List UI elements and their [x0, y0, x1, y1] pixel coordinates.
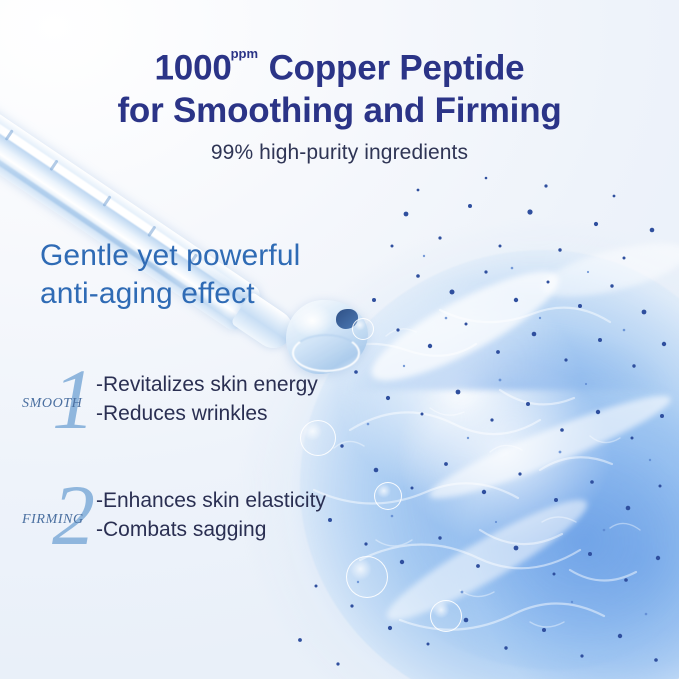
headline-line1-rest: Copper Peptide [259, 49, 524, 88]
product-marketing-image: 1000ppm Copper Peptide for Smoothing and… [0, 0, 679, 679]
benefit-line: -Reduces wrinkles [96, 399, 396, 428]
benefit-lines: -Revitalizes skin energy -Reduces wrinkl… [96, 370, 396, 428]
benefit-heading-line2: anti-aging effect [40, 275, 300, 313]
benefit-line: -Enhances skin elasticity [96, 486, 396, 515]
benefit-line: -Revitalizes skin energy [96, 370, 396, 399]
headline-line2: for Smoothing and Firming [0, 90, 679, 132]
benefit-lines: -Enhances skin elasticity -Combats saggi… [96, 486, 396, 544]
page-title: 1000ppm Copper Peptide for Smoothing and… [0, 42, 679, 132]
headline-amount: 1000 [155, 49, 232, 88]
benefit-heading-line1: Gentle yet powerful [40, 237, 300, 275]
benefit-line: -Combats sagging [96, 515, 396, 544]
benefit-step-label: SMOOTH [22, 396, 106, 412]
text-content: 1000ppm Copper Peptide for Smoothing and… [0, 0, 679, 679]
subheadline: 99% high-purity ingredients [0, 141, 679, 165]
benefit-heading: Gentle yet powerful anti-aging effect [40, 237, 300, 313]
benefit-step-label: FIRMING [22, 512, 106, 528]
headline-unit: ppm [231, 46, 258, 61]
